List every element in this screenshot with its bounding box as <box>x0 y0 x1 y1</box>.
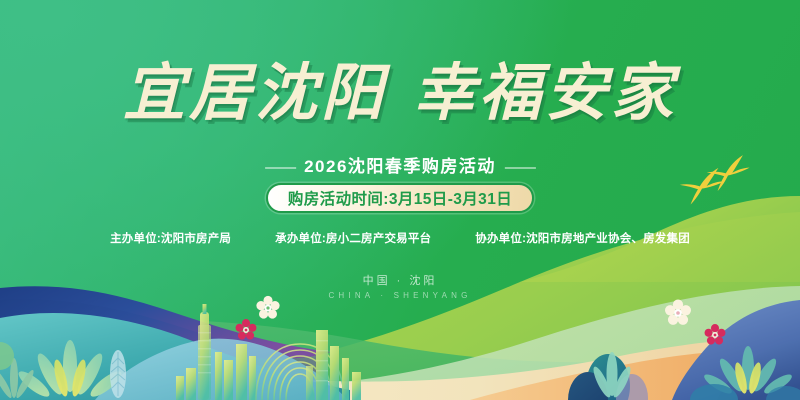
page-title: 宜居沈阳幸福安家 <box>0 56 800 130</box>
subtitle-text: 2026沈阳春季购房活动 <box>304 157 496 176</box>
organizer-cohost: 协办单位:沈阳市房地产业协会、房发集团 <box>475 230 690 246</box>
subtitle-dash-left: —— <box>265 159 295 177</box>
location-english: CHINA · SHENYANG <box>0 289 800 302</box>
subtitle-dash-right: —— <box>505 159 535 177</box>
organizer-list: 主办单位:沈阳市房产局 承办单位:房小二房产交易平台 协办单位:沈阳市房地产业协… <box>0 230 800 246</box>
location-chinese: 中国 · 沈阳 <box>0 274 800 289</box>
status-badge: 购房活动时间:3月15日-3月31日 <box>266 183 534 213</box>
headline-left: 宜居沈阳 <box>123 56 387 129</box>
location-label: 中国 · 沈阳 CHINA · SHENYANG <box>0 274 800 302</box>
organizer-operator: 承办单位:房小二房产交易平台 <box>275 230 431 246</box>
headline-right: 幸福安家 <box>413 56 677 129</box>
subtitle: ——2026沈阳春季购房活动—— <box>0 152 800 177</box>
organizer-host: 主办单位:沈阳市房产局 <box>110 230 231 246</box>
promotional-poster: 宜居沈阳幸福安家 ——2026沈阳春季购房活动—— 购房活动时间:3月15日-3… <box>0 0 800 400</box>
event-date-badge-wrapper: 购房活动时间:3月15日-3月31日 <box>0 183 800 213</box>
